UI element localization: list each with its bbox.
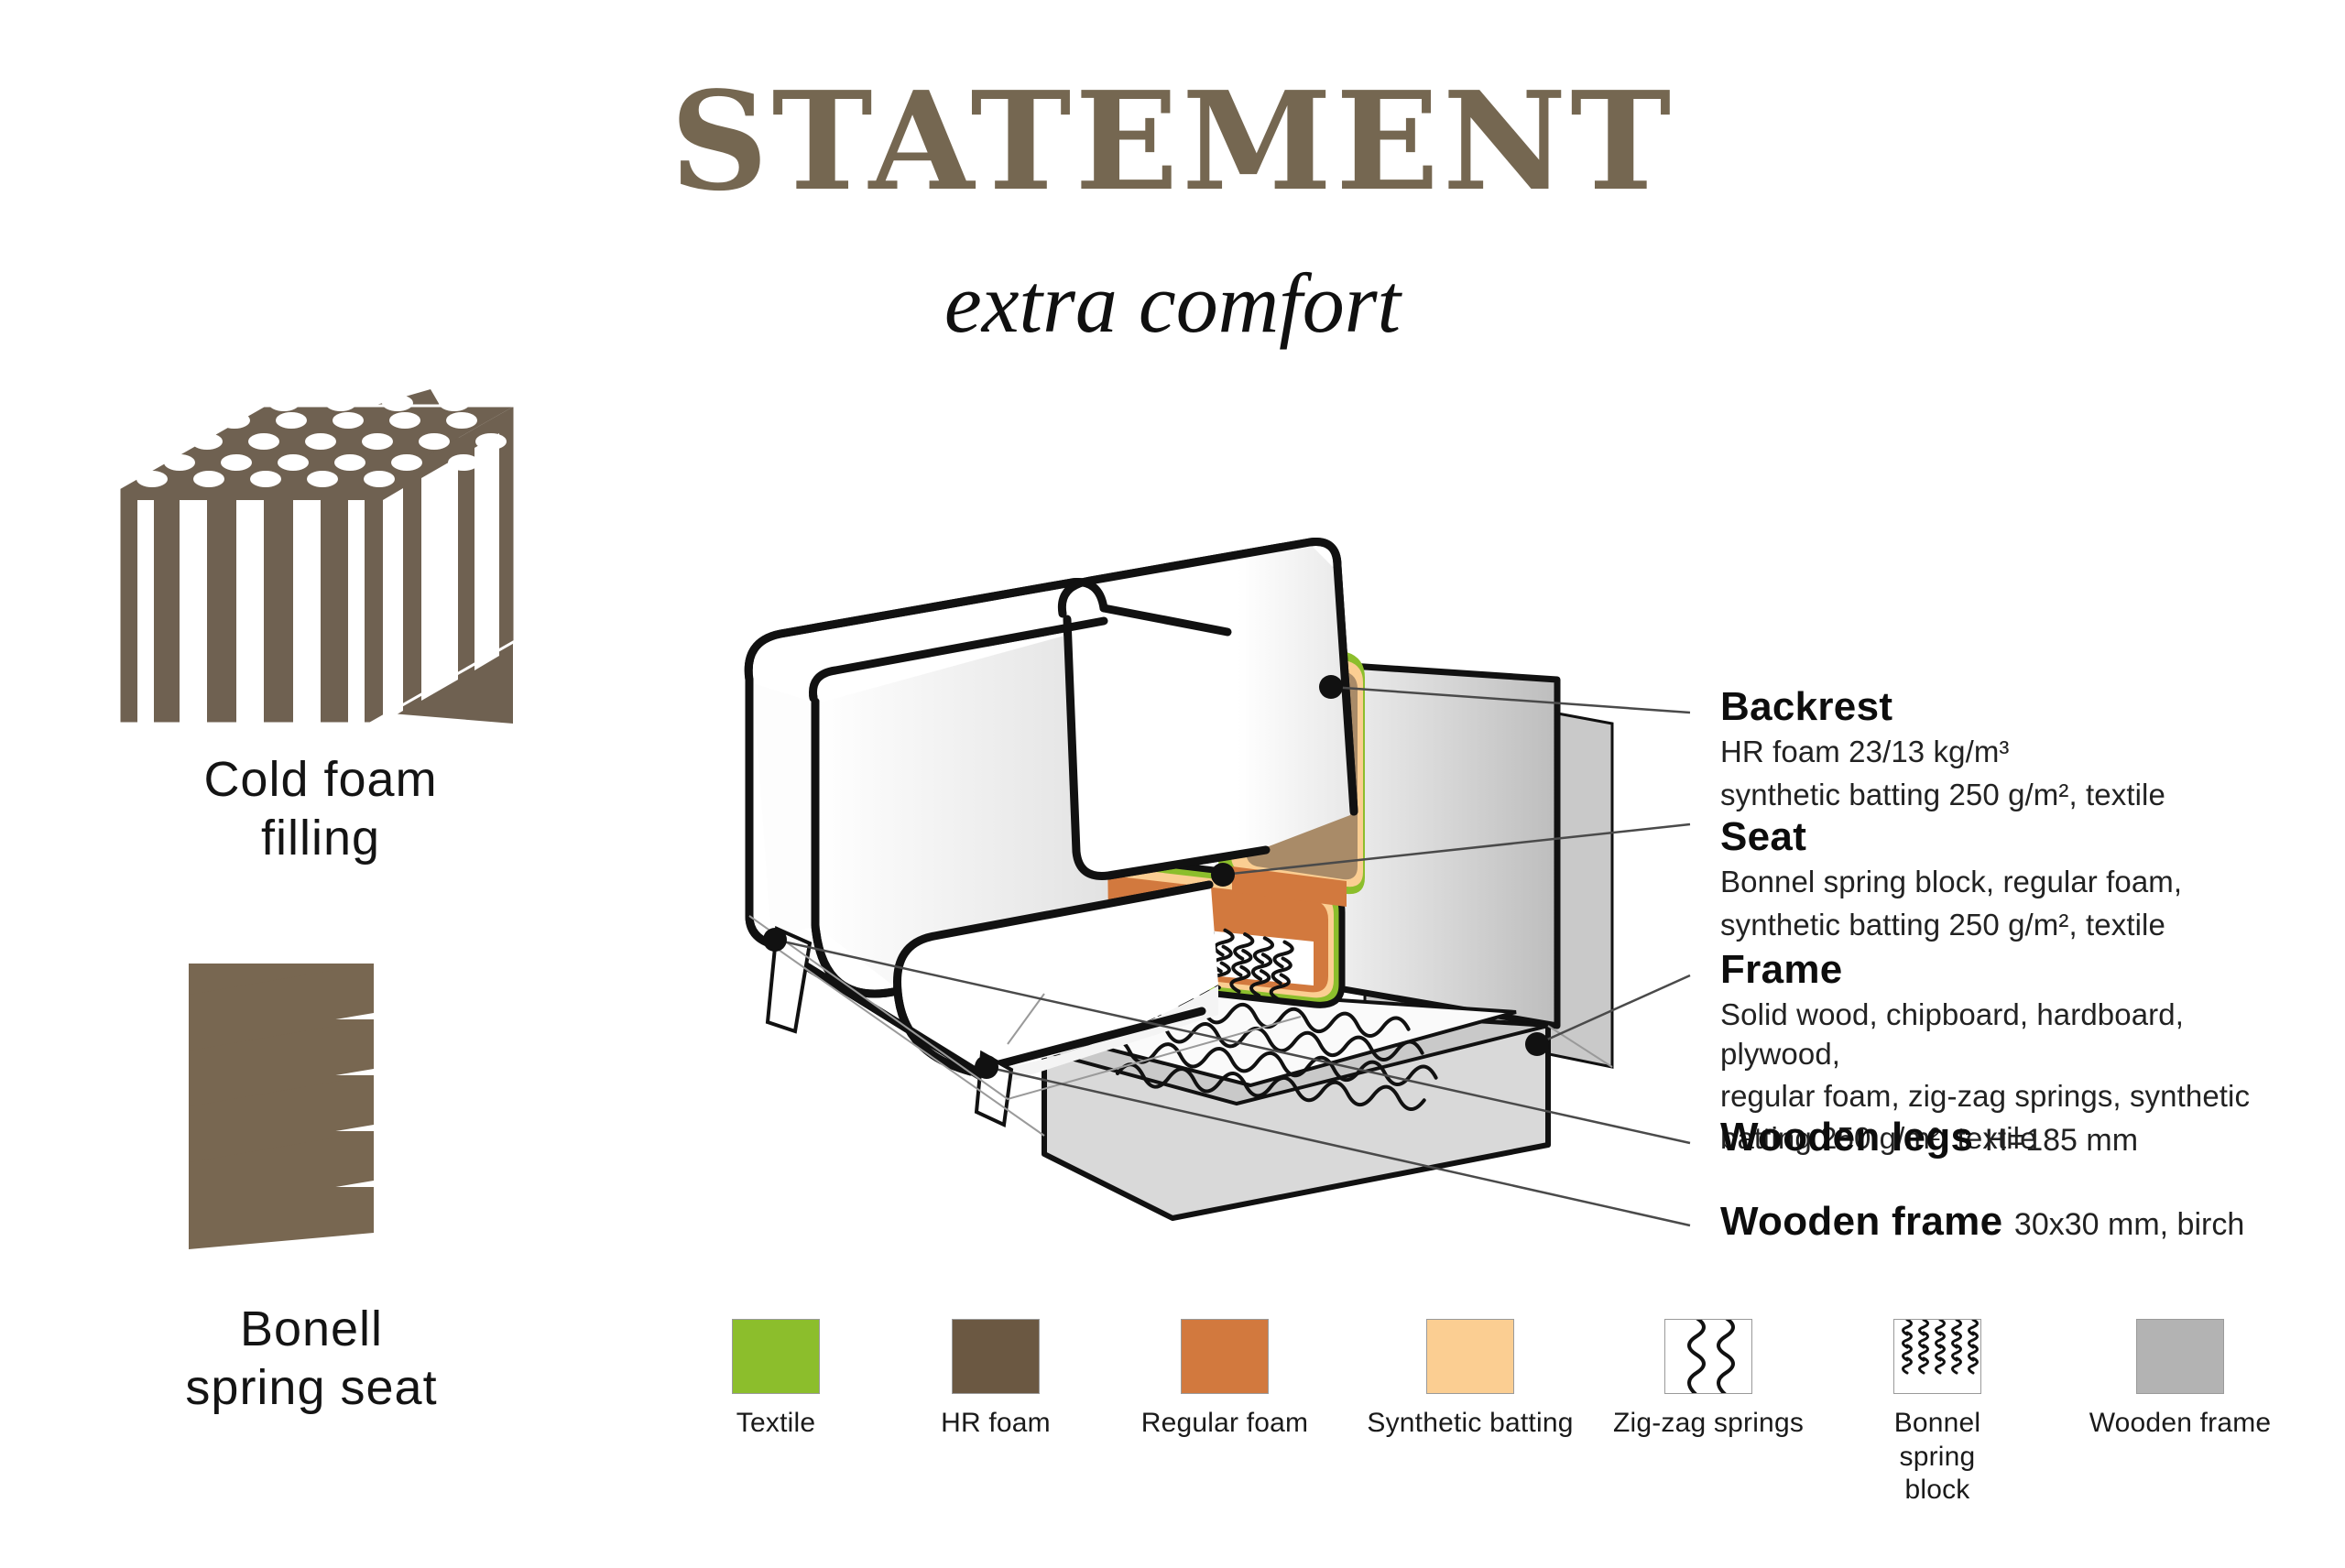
dot-backrest bbox=[1319, 675, 1343, 699]
spec-backrest-line1: HR foam 23/13 kg/m³ bbox=[1720, 733, 2307, 771]
spec-seat-line2: synthetic batting 250 g/m², textile bbox=[1720, 906, 2307, 944]
spec-seat-title: Seat bbox=[1720, 815, 2307, 859]
legend-label-regular-foam: Regular foam bbox=[1129, 1407, 1321, 1441]
cold-foam-caption-line2: filling bbox=[55, 810, 586, 868]
spec-wooden-legs-title: Wooden legs bbox=[1720, 1115, 1973, 1160]
spec-seat: Seat Bonnel spring block, regular foam, … bbox=[1720, 815, 2307, 944]
legend-item-textile: Textile bbox=[689, 1319, 863, 1441]
zigzag-spring-icon bbox=[189, 964, 374, 1249]
dot-wooden-legs bbox=[763, 928, 787, 952]
spec-backrest: Backrest HR foam 23/13 kg/m³ synthetic b… bbox=[1720, 685, 2307, 814]
legend-label-bonnel-spring-block: Bonnel spring block bbox=[1869, 1407, 2006, 1508]
spec-frame-line2: regular foam, zig-zag springs, synthetic bbox=[1720, 1077, 2307, 1116]
legend-swatch-hr-foam bbox=[952, 1319, 1040, 1394]
legend-swatch-wooden-frame bbox=[2136, 1319, 2224, 1394]
legend-label-hr-foam: HR foam bbox=[909, 1407, 1083, 1441]
dot-frame bbox=[1525, 1032, 1549, 1056]
legend-label-synthetic-batting: Synthetic batting bbox=[1356, 1407, 1585, 1441]
spec-wooden-legs: Wooden legs H=185 mm bbox=[1720, 1116, 2307, 1160]
spec-wooden-frame: Wooden frame 30x30 mm, birch bbox=[1720, 1200, 2307, 1244]
legend-swatch-textile bbox=[732, 1319, 820, 1394]
legend-item-hr-foam: HR foam bbox=[909, 1319, 1083, 1441]
legend-swatch-synthetic-batting bbox=[1426, 1319, 1514, 1394]
spec-backrest-line2: synthetic batting 250 g/m², textile bbox=[1720, 776, 2307, 814]
cold-foam-block-icon bbox=[119, 389, 515, 726]
legend-item-bonnel-spring-block: Bonnel spring block bbox=[1841, 1319, 2034, 1508]
dot-wooden-frame bbox=[975, 1055, 998, 1079]
dot-seat bbox=[1211, 863, 1235, 887]
legend-swatch-regular-foam bbox=[1181, 1319, 1269, 1394]
spec-wooden-legs-detail: H=185 mm bbox=[1985, 1123, 2138, 1158]
legend-swatch-bonnel-spring-block bbox=[1893, 1319, 1981, 1394]
legend-item-synthetic-batting: Synthetic batting bbox=[1356, 1319, 1585, 1441]
legend-label-textile: Textile bbox=[689, 1407, 863, 1441]
cold-foam-caption-line1: Cold foam bbox=[55, 751, 586, 810]
spec-wooden-frame-title: Wooden frame bbox=[1720, 1199, 2002, 1244]
spec-wooden-frame-detail: 30x30 mm, birch bbox=[2014, 1207, 2244, 1242]
spec-frame-title: Frame bbox=[1720, 948, 2307, 992]
legend-item-zigzag-springs: Zig-zag springs bbox=[1594, 1319, 1823, 1441]
sofa-illustration bbox=[748, 542, 1612, 1218]
legend-item-wooden-frame: Wooden frame bbox=[2070, 1319, 2290, 1441]
spec-backrest-title: Backrest bbox=[1720, 685, 2307, 729]
legend-item-regular-foam: Regular foam bbox=[1129, 1319, 1321, 1441]
legend-swatch-zigzag-springs bbox=[1664, 1319, 1752, 1394]
legend-label-zigzag-springs: Zig-zag springs bbox=[1594, 1407, 1823, 1441]
legend-label-wooden-frame: Wooden frame bbox=[2070, 1407, 2290, 1441]
legend: Textile HR foam Regular foam Synthetic b… bbox=[0, 1319, 2345, 1530]
spec-seat-line1: Bonnel spring block, regular foam, bbox=[1720, 863, 2307, 901]
cold-foam-caption: Cold foam filling bbox=[55, 751, 586, 867]
spec-frame-line1: Solid wood, chipboard, hardboard, plywoo… bbox=[1720, 996, 2307, 1073]
